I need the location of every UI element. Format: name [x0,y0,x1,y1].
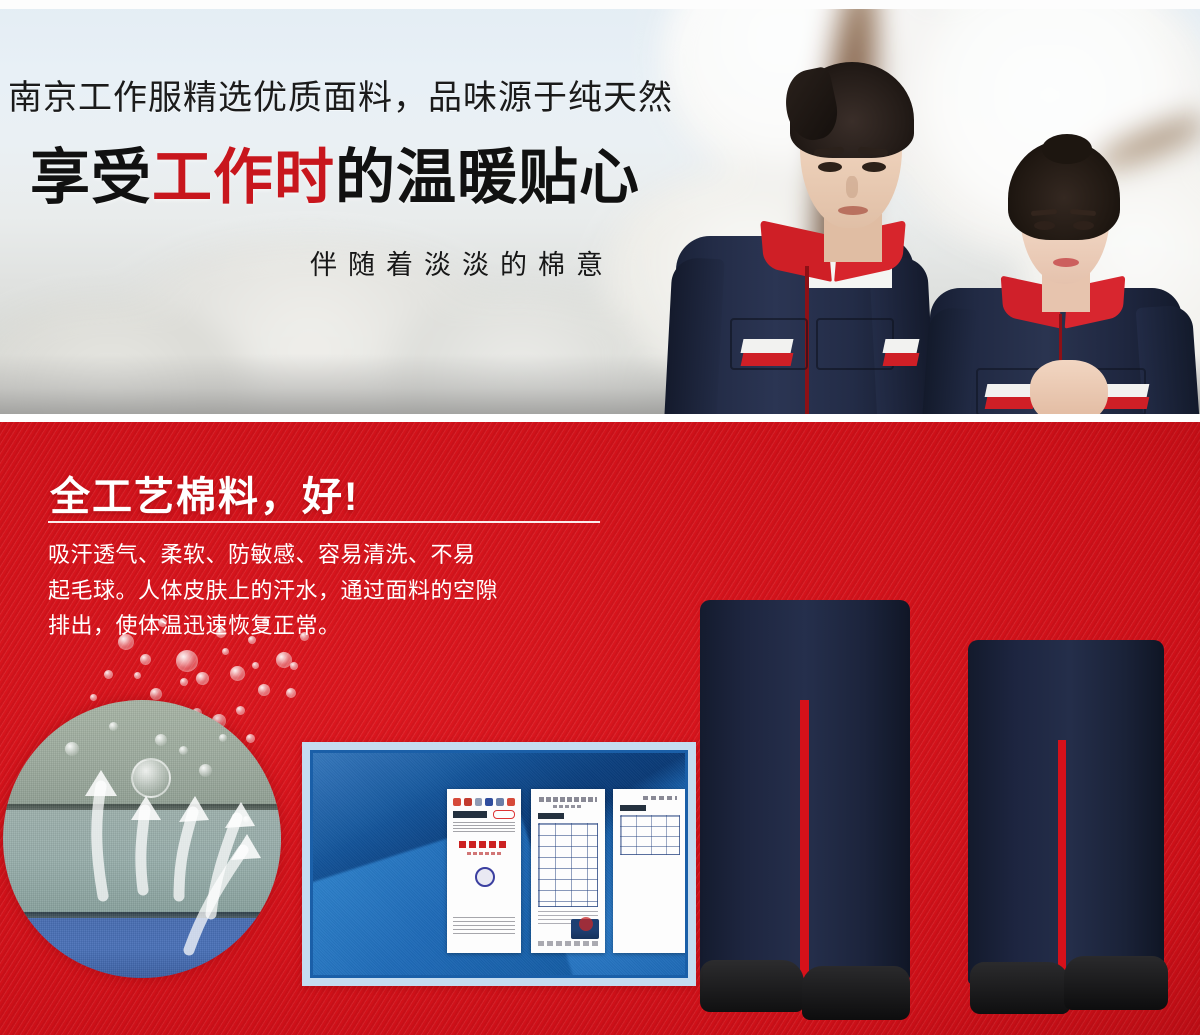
feature-body: 吸汗透气、柔软、防敏感、容易清洗、不易 起毛球。人体皮肤上的汗水，通过面料的空隙… [48,537,668,644]
female-shoe-right [1064,956,1168,1010]
water-droplet [252,662,259,669]
hero-headline: 享受工作时的温暖贴心 [30,146,640,209]
headline-segment-2: 的温暖贴心 [335,144,640,211]
male-nose [846,176,858,198]
form-logo-bar [538,813,564,819]
table-grid [620,815,680,855]
headline-segment-1: 享受 [30,144,152,211]
breathability-diagram [3,700,281,978]
water-droplet [258,684,270,696]
female-shoe-left [970,962,1070,1014]
male-stripe-white-left [741,339,794,353]
female-hair-bun [1042,134,1092,164]
hero-subline: 伴随着淡淡的棉意 [310,243,614,282]
water-droplet [140,654,151,665]
form-red-seal-icon [579,917,593,931]
male-stripe-red-right [883,353,920,366]
water-droplet [150,688,162,700]
female-eye-right [1073,221,1094,230]
hero-top-strip [0,0,1200,9]
female-leg-gap [1058,740,1066,986]
female-mouth [1053,258,1079,267]
certificate-red-stamp-box [493,810,515,819]
water-droplet [104,670,113,679]
form-footer-line [538,941,598,946]
female-stripe-white-left [985,384,1036,397]
certificate-header-lines [453,822,515,832]
hero-kicker: 南京工作服精选优质面料，品味源于纯天然 [8,70,673,119]
water-droplet [290,662,298,670]
form-subheader-line [553,805,583,808]
male-mouth [838,206,868,215]
fabric-certificates-inner [310,750,688,978]
water-droplet [222,648,229,655]
hero-section: 南京工作服精选优质面料，品味源于纯天然 享受工作时的温暖贴心 伴随着淡淡的棉意 [0,0,1200,416]
certificate-inspection-form [531,789,605,953]
form-header-line [539,797,597,802]
water-droplet [230,666,245,681]
certificate-data-table [613,789,687,953]
female-eye-left [1034,221,1055,230]
water-droplet [180,678,188,686]
water-bubble-large [131,758,171,798]
certificate-subtitle [467,852,501,855]
certificate-logo-row [453,797,515,806]
certificate-footer-lines [453,917,515,937]
section-separator [0,414,1200,422]
table-logo-bar [620,805,646,811]
certificate-seal-icon [475,867,495,887]
male-eye-left [818,162,842,172]
certificate-header-bar [453,811,487,818]
male-leg-gap [800,700,809,982]
certificate-test-report [447,789,521,953]
male-eye-right [862,162,886,172]
female-trousers [968,640,1164,984]
fabric-certificates-panel [302,742,696,986]
male-stripe-red-left [741,353,794,366]
certificate-title-red [459,841,509,848]
product-banner: 南京工作服精选优质面料，品味源于纯天然 享受工作时的温暖贴心 伴随着淡淡的棉意 … [0,0,1200,1035]
feature-divider [48,521,600,523]
male-stripe-white-right [883,339,920,353]
feature-title: 全工艺棉料，好! [50,464,359,522]
headline-accent-segment: 工作时 [152,144,335,211]
male-shoe-right [802,966,910,1020]
water-droplet [286,688,296,698]
table-title-line [643,796,677,800]
airflow-arrows-icon [3,700,281,978]
female-stripe-red-left [985,397,1036,409]
form-data-table [538,823,598,907]
water-droplet [134,672,141,679]
water-droplet [176,650,198,672]
feature-body-line: 排出，使体温迅速恢复正常。 [48,608,668,644]
male-shoe-left [700,960,804,1012]
feature-body-line: 起毛球。人体皮肤上的汗水，通过面料的空隙 [48,573,668,609]
male-sleeve-left [663,257,724,416]
female-hands [1030,360,1108,416]
water-droplet [196,672,209,685]
feature-body-line: 吸汗透气、柔软、防敏感、容易清洗、不易 [48,537,668,573]
